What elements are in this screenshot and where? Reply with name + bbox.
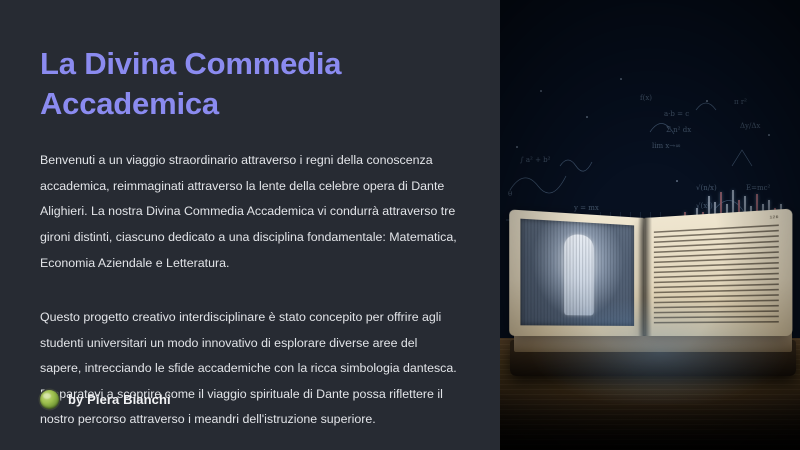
svg-text:a·b = c: a·b = c — [664, 110, 689, 118]
page-folio-number: 126 — [770, 214, 779, 220]
text-panel: La Divina Commedia Accademica Benvenuti … — [0, 0, 500, 450]
author-name: by Piera Bianchi — [68, 392, 171, 407]
byline: by Piera Bianchi — [40, 390, 171, 409]
sparkle-dot — [706, 100, 708, 102]
sparkle-dot — [620, 78, 622, 80]
svg-text:∫ a² + b²: ∫ a² + b² — [520, 156, 551, 164]
open-book: 126 — [500, 196, 800, 376]
user-avatar-icon — [40, 390, 59, 409]
book-left-page — [509, 209, 644, 336]
book-gutter-shadow — [638, 218, 652, 336]
sparkle-dot — [768, 134, 770, 136]
intro-paragraph-1: Benvenuti a un viaggio straordinario att… — [40, 148, 460, 276]
sparkle-dot — [540, 90, 542, 92]
book-right-page: 126 — [644, 209, 792, 336]
intro-paragraph-2: Questo progetto creativo interdisciplina… — [40, 305, 460, 433]
page-title: La Divina Commedia Accademica — [40, 44, 400, 123]
svg-text:Δy/Δx: Δy/Δx — [740, 122, 760, 130]
sparkle-dot — [516, 146, 518, 148]
dante-engraving-illustration — [520, 219, 634, 326]
sparkle-dot — [586, 116, 588, 118]
svg-text:π r²: π r² — [734, 98, 747, 106]
svg-text:f(x): f(x) — [640, 94, 652, 102]
svg-text:lim x→∞: lim x→∞ — [652, 142, 681, 150]
table-shadow — [500, 390, 800, 450]
printed-text-lines — [654, 224, 779, 326]
svg-text:Σ n² dx: Σ n² dx — [666, 126, 691, 134]
engraving-hatching — [520, 219, 634, 326]
open-antique-book-illustration: f(x) a·b = c Σ n² dx lim x→∞ ∫ a² + b² π… — [500, 0, 800, 450]
presentation-slide: La Divina Commedia Accademica Benvenuti … — [0, 0, 800, 450]
